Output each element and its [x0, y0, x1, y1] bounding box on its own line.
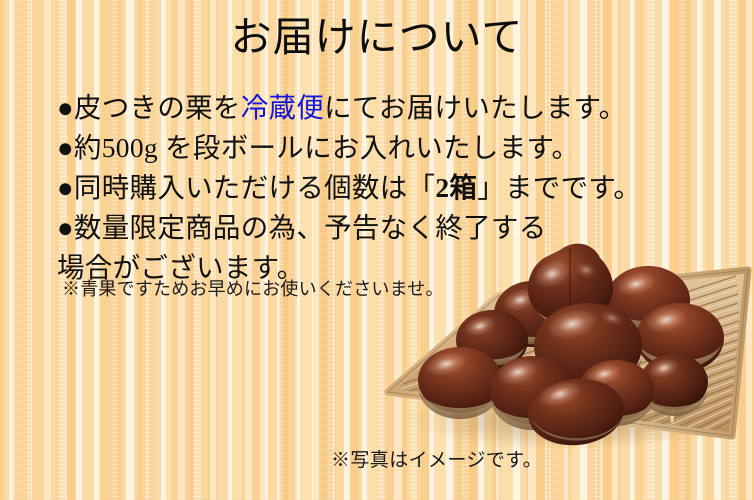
bullet-highlight-refrigerated: 冷蔵便 [241, 92, 324, 123]
chestnut [418, 347, 502, 419]
bullet-text-before: 同時購入いただける個数は「 [74, 172, 435, 203]
list-item: ●同時購入いただける個数は「2箱」までです。 [57, 168, 577, 208]
promo-banner: お届けについて ●皮つきの栗を冷蔵便にてお届けいたします。 ●約500g を段ボ… [0, 0, 754, 500]
page-title: お届けについて [0, 14, 754, 61]
bullet-text-after: 」までです。 [477, 172, 641, 203]
product-photo-chestnuts [380, 240, 754, 460]
bullet-text-after: にてお届けいたします。 [324, 92, 626, 123]
photo-caption: ※写真はイメージです。 [331, 449, 542, 473]
bullet-marker: ● [57, 132, 74, 163]
bullet-highlight-box-limit: 2箱 [435, 172, 477, 203]
bullet-marker: ● [57, 172, 74, 203]
list-item: ●皮つきの栗を冷蔵便にてお届けいたします。 [57, 88, 577, 128]
bullet-marker: ● [57, 212, 74, 243]
chestnuts-on-bamboo-tray-illustration [380, 240, 754, 460]
list-item: ●約500g を段ボールにお入れいたします。 [57, 128, 577, 168]
bullet-text-before: 皮つきの栗を [74, 92, 241, 123]
bullet-text-before: 約500g を段ボールにお入れいたします。 [74, 132, 579, 163]
bullet-marker: ● [57, 92, 74, 123]
